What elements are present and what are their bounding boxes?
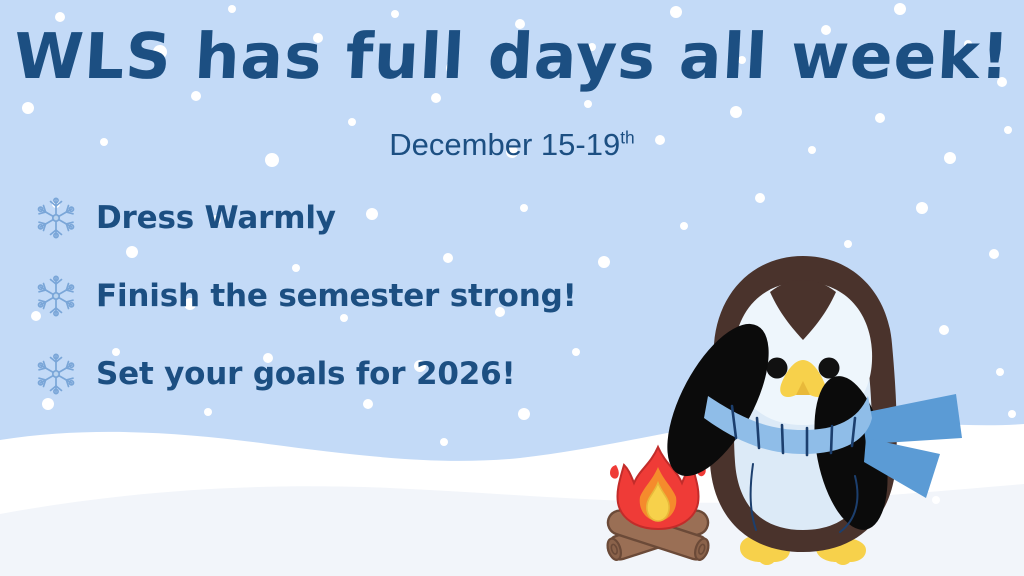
snowflake-icon	[34, 274, 78, 318]
date-subtitle: December 15-19th	[0, 127, 1024, 163]
date-range-text: December 15-19	[389, 127, 620, 162]
list-item: Finish the semester strong!	[34, 260, 654, 332]
list-item-label: Set your goals for 2026!	[96, 356, 515, 392]
list-item: Set your goals for 2026!	[34, 338, 654, 410]
winter-announcement-poster: WLS has full days all week! December 15-…	[0, 0, 1024, 576]
list-item-label: Dress Warmly	[96, 200, 336, 236]
snowflake-icon	[34, 196, 78, 240]
penguin-illustration	[640, 248, 970, 576]
snowflake-icon	[34, 352, 78, 396]
announcement-list: Dress Warmly	[34, 182, 654, 416]
list-item-label: Finish the semester strong!	[96, 278, 577, 314]
date-ordinal-suffix: th	[620, 128, 634, 148]
page-title: WLS has full days all week!	[0, 24, 1024, 90]
list-item: Dress Warmly	[34, 182, 654, 254]
penguin-eye-left	[767, 358, 788, 379]
penguin-eye-right	[819, 358, 840, 379]
